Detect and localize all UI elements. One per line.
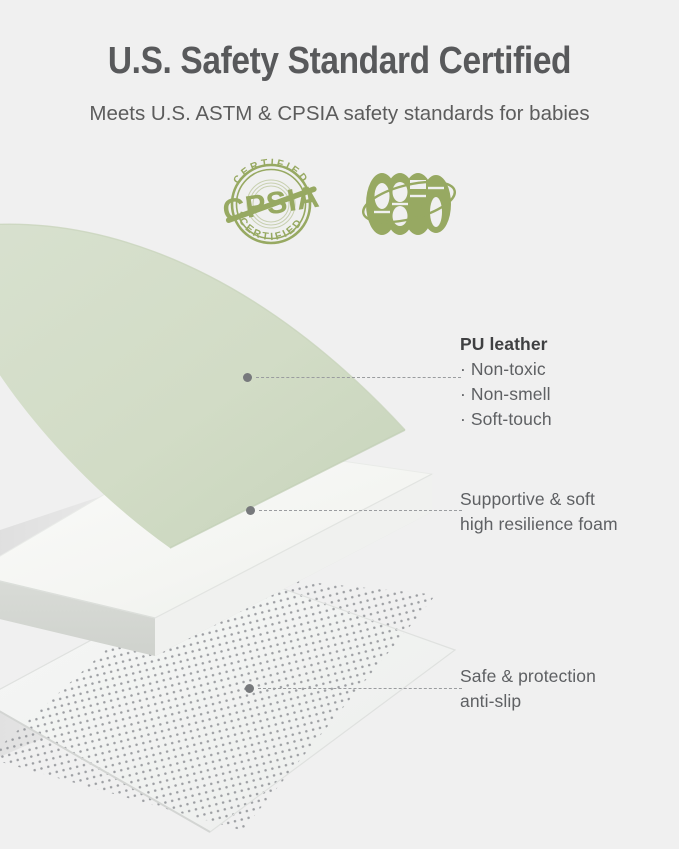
callout-heading: PU leather bbox=[460, 332, 552, 357]
leader-dash bbox=[258, 688, 462, 689]
leader-dot bbox=[246, 506, 255, 515]
callout-line: · Non-toxic bbox=[460, 357, 552, 382]
product-layers-illustration bbox=[0, 0, 679, 849]
callout-line: anti-slip bbox=[460, 689, 596, 714]
callout-line: Supportive & soft bbox=[460, 487, 618, 512]
callout-anti-slip: Safe & protection anti-slip bbox=[460, 664, 596, 714]
callout-line: Safe & protection bbox=[460, 664, 596, 689]
infographic-canvas: U.S. Safety Standard Certified Meets U.S… bbox=[0, 0, 679, 849]
callout-foam: Supportive & soft high resilience foam bbox=[460, 487, 618, 537]
leader-dash bbox=[256, 377, 461, 378]
callout-line: high resilience foam bbox=[460, 512, 618, 537]
leader-dot bbox=[243, 373, 252, 382]
leader-dot bbox=[245, 684, 254, 693]
callout-pu-leather: PU leather · Non-toxic · Non-smell · Sof… bbox=[460, 332, 552, 432]
leader-dash bbox=[259, 510, 462, 511]
callout-line: · Soft-touch bbox=[460, 407, 552, 432]
callout-line: · Non-smell bbox=[460, 382, 552, 407]
